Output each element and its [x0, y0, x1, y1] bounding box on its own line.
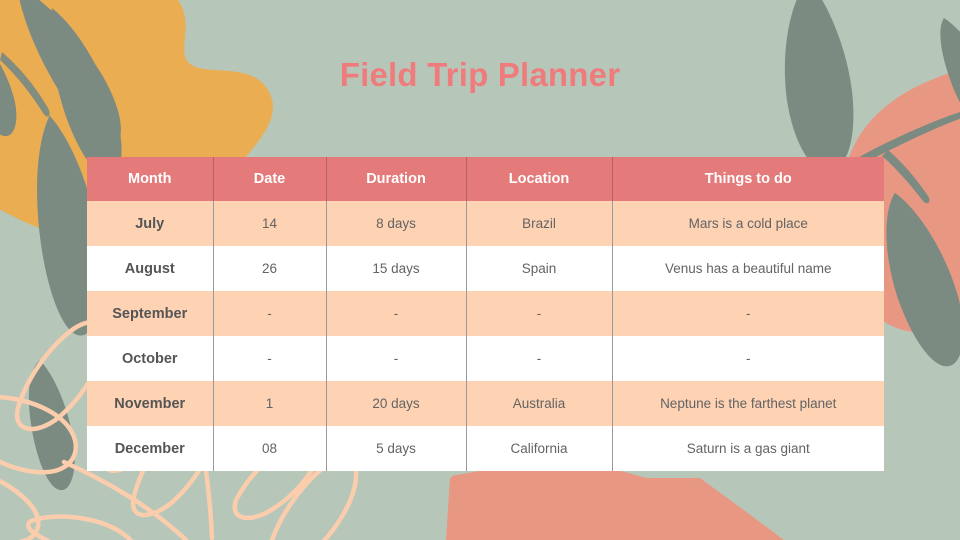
table-row[interactable]: December 08 5 days California Saturn is …	[87, 426, 884, 471]
cell-date[interactable]: 08	[213, 426, 326, 471]
cell-duration[interactable]: 5 days	[326, 426, 466, 471]
table-row[interactable]: July 14 8 days Brazil Mars is a cold pla…	[87, 201, 884, 246]
cell-things[interactable]: Neptune is the farthest planet	[612, 381, 884, 426]
cell-duration[interactable]: -	[326, 336, 466, 381]
cell-date[interactable]: 26	[213, 246, 326, 291]
column-header-duration[interactable]: Duration	[326, 157, 466, 201]
page-title: Field Trip Planner	[0, 56, 960, 94]
cell-duration[interactable]: 15 days	[326, 246, 466, 291]
cell-duration[interactable]: -	[326, 291, 466, 336]
cell-duration[interactable]: 8 days	[326, 201, 466, 246]
cell-month[interactable]: July	[87, 201, 213, 246]
field-trip-table-container: Month Date Duration Location Things to d…	[87, 157, 884, 471]
cell-location[interactable]: -	[466, 336, 612, 381]
slide-canvas: Field Trip Planner Month Date Duration L…	[0, 0, 960, 540]
salmon-blob-bottom-center-body	[446, 478, 784, 540]
cell-date[interactable]: 14	[213, 201, 326, 246]
cell-things[interactable]: Saturn is a gas giant	[612, 426, 884, 471]
cell-month[interactable]: September	[87, 291, 213, 336]
table-row[interactable]: November 1 20 days Australia Neptune is …	[87, 381, 884, 426]
cell-location[interactable]: -	[466, 291, 612, 336]
cell-month[interactable]: November	[87, 381, 213, 426]
column-header-month[interactable]: Month	[87, 157, 213, 201]
cell-month[interactable]: October	[87, 336, 213, 381]
column-header-location[interactable]: Location	[466, 157, 612, 201]
table-header: Month Date Duration Location Things to d…	[87, 157, 884, 201]
column-header-things[interactable]: Things to do	[612, 157, 884, 201]
cell-duration[interactable]: 20 days	[326, 381, 466, 426]
cell-month[interactable]: December	[87, 426, 213, 471]
table-header-row: Month Date Duration Location Things to d…	[87, 157, 884, 201]
cell-location[interactable]: Australia	[466, 381, 612, 426]
table-row[interactable]: August 26 15 days Spain Venus has a beau…	[87, 246, 884, 291]
cell-things[interactable]: Venus has a beautiful name	[612, 246, 884, 291]
cell-location[interactable]: California	[466, 426, 612, 471]
cell-location[interactable]: Spain	[466, 246, 612, 291]
table-row[interactable]: September - - - -	[87, 291, 884, 336]
cell-month[interactable]: August	[87, 246, 213, 291]
column-header-date[interactable]: Date	[213, 157, 326, 201]
cell-things[interactable]: -	[612, 291, 884, 336]
cell-location[interactable]: Brazil	[466, 201, 612, 246]
field-trip-table: Month Date Duration Location Things to d…	[87, 157, 884, 471]
salmon-blob-bottom-center-shape	[449, 464, 742, 540]
table-body: July 14 8 days Brazil Mars is a cold pla…	[87, 201, 884, 471]
cell-date[interactable]: 1	[213, 381, 326, 426]
table-row[interactable]: October - - - -	[87, 336, 884, 381]
cell-date[interactable]: -	[213, 291, 326, 336]
cell-things[interactable]: Mars is a cold place	[612, 201, 884, 246]
cell-things[interactable]: -	[612, 336, 884, 381]
cell-date[interactable]: -	[213, 336, 326, 381]
